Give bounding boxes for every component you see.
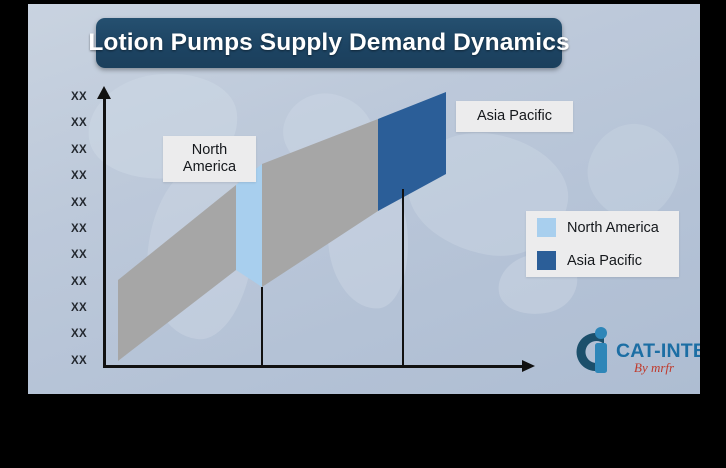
slide-panel: Lotion Pumps Supply Demand Dynamics XX X… xyxy=(28,4,700,394)
y-tick-label: XX xyxy=(66,249,92,261)
y-tick-label: XX xyxy=(66,197,92,209)
callout-asia-pacific: Asia Pacific xyxy=(456,101,573,132)
legend-label-asia-pacific: Asia Pacific xyxy=(567,253,642,269)
callout-asia-pacific-label: Asia Pacific xyxy=(477,108,552,125)
world-map-backdrop xyxy=(322,166,414,312)
legend-item-north-america: North America xyxy=(526,211,679,244)
chart-legend: North America Asia Pacific xyxy=(526,211,679,277)
logo-tagline: By mrfr xyxy=(634,360,674,376)
brand-logo: CAT-INTEL By mrfr xyxy=(568,324,696,384)
slide-frame: Lotion Pumps Supply Demand Dynamics XX X… xyxy=(0,0,726,468)
callout-north-america: North America xyxy=(163,136,256,182)
category-divider-1 xyxy=(261,287,263,366)
legend-label-north-america: North America xyxy=(567,220,659,236)
legend-swatch-north-america xyxy=(537,218,556,237)
y-tick-label: XX xyxy=(66,223,92,235)
world-map-backdrop xyxy=(139,159,262,344)
y-tick-label: XX xyxy=(66,302,92,314)
y-tick-label: XX xyxy=(66,328,92,340)
callout-north-america-label: North America xyxy=(183,142,236,176)
y-tick-label: XX xyxy=(66,276,92,288)
y-tick-label: XX xyxy=(66,144,92,156)
y-tick-label: XX xyxy=(66,91,92,103)
y-tick-label: XX xyxy=(66,355,92,367)
page-title: Lotion Pumps Supply Demand Dynamics xyxy=(88,29,569,57)
y-tick-label: XX xyxy=(66,117,92,129)
category-divider-2 xyxy=(402,189,404,366)
y-axis-line xyxy=(103,96,106,368)
cat-intel-mark-icon xyxy=(568,324,620,380)
legend-item-asia-pacific: Asia Pacific xyxy=(526,244,679,277)
y-tick-label: XX xyxy=(66,170,92,182)
y-axis-arrow xyxy=(97,86,111,99)
x-axis-arrow xyxy=(522,360,535,372)
slide-title-bar: Lotion Pumps Supply Demand Dynamics xyxy=(96,18,562,68)
x-axis-line xyxy=(103,365,524,368)
legend-swatch-asia-pacific xyxy=(537,251,556,270)
